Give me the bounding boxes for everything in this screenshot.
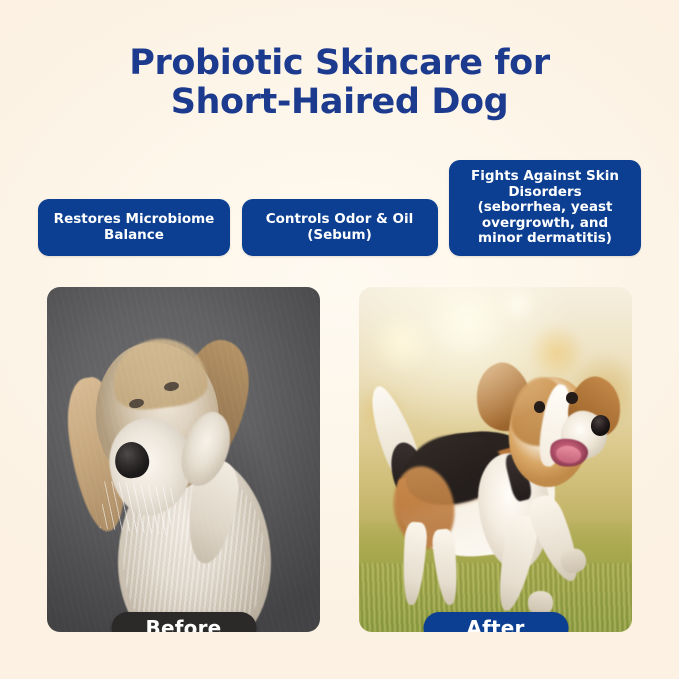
badge-2-line-3: overgrowth, and (471, 216, 619, 232)
before-panel: Before (47, 287, 320, 632)
badge-2-line-4: minor dermatitis) (471, 231, 619, 247)
after-panel: After (359, 287, 632, 632)
before-label-pill: Before (111, 612, 256, 632)
page-title: Probiotic Skincare for Short-Haired Dog (0, 44, 679, 122)
badge-fights-against-skin-disorders: Fights Against Skin Disorders (seborrhea… (449, 160, 641, 256)
page-title-line-1: Probiotic Skincare for (0, 44, 679, 83)
badge-1-line-1: (Sebum) (266, 228, 414, 244)
after-photo (359, 287, 632, 632)
badge-1-line-0: Controls Odor & Oil (266, 212, 414, 228)
before-photo (47, 287, 320, 632)
badge-2-line-1: Disorders (471, 185, 619, 201)
badge-controls-odor-and-oil: Controls Odor & Oil (Sebum) (242, 199, 438, 256)
badge-0-line-1: Balance (54, 228, 215, 244)
before-after-comparison: Before (47, 287, 632, 632)
before-dog-scruffy-fur-texture (47, 287, 320, 632)
after-dog-eye-left (534, 401, 545, 413)
after-label-pill: After (423, 612, 568, 632)
badge-2-line-2: (seborrhea, yeast (471, 200, 619, 216)
page-title-line-2: Short-Haired Dog (0, 83, 679, 122)
after-dog-eye-right (566, 392, 577, 404)
badge-restores-microbiome-balance: Restores Microbiome Balance (38, 199, 230, 256)
badge-2-line-0: Fights Against Skin (471, 169, 619, 185)
badge-0-line-0: Restores Microbiome (54, 212, 215, 228)
benefit-badge-row: Restores Microbiome Balance Controls Odo… (38, 150, 641, 256)
